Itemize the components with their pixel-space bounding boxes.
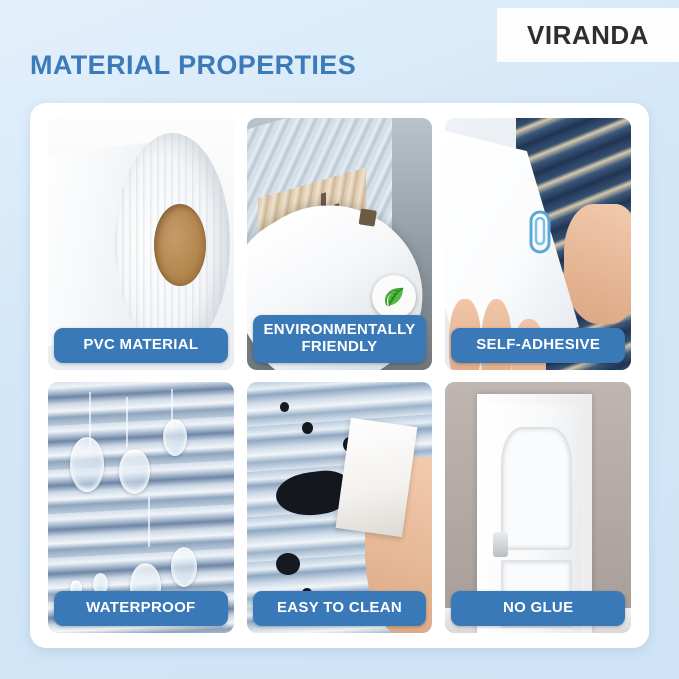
feature-cell-self-adhesive[interactable]: SELF-ADHESIVE [445,118,631,370]
features-grid: PVC MATERIAL [48,118,631,633]
features-card: PVC MATERIAL [30,103,649,648]
right-hand-shape [564,204,631,325]
feature-label-easy-to-clean: EASY TO CLEAN [253,591,427,626]
droplet-trail [148,497,150,547]
feature-label-no-glue: NO GLUE [451,591,625,626]
feature-cell-easy-to-clean[interactable]: EASY TO CLEAN [247,382,433,634]
droplet-trail [126,397,128,447]
feature-cell-no-glue[interactable]: NO GLUE [445,382,631,634]
green-leaf-icon [372,275,416,319]
stain-dot [280,402,289,412]
door-handle-icon [493,532,508,557]
brand-name: VIRANDA [527,20,649,51]
paperclip-icon [527,209,553,260]
feature-label-environmentally-friendly: ENVIRONMENTALLY FRIENDLY [253,315,427,363]
feature-label-self-adhesive: SELF-ADHESIVE [451,328,625,363]
feature-cell-environmentally-friendly[interactable]: ENVIRONMENTALLY FRIENDLY [247,118,433,370]
water-droplet [70,437,104,492]
feature-cell-waterproof[interactable]: WATERPROOF [48,382,234,634]
feature-label-waterproof: WATERPROOF [54,591,228,626]
feature-cell-pvc-material[interactable]: PVC MATERIAL [48,118,234,370]
label-line-1: ENVIRONMENTALLY [263,321,415,338]
water-droplet [119,449,151,494]
curl-tip-shape [359,208,377,226]
feature-label-pvc-material: PVC MATERIAL [54,328,228,363]
page-title: MATERIAL PROPERTIES [30,50,356,81]
brand-logo-box: VIRANDA [497,8,679,62]
water-droplet [171,547,197,587]
pvc-core-shape [154,204,206,287]
label-line-2: FRIENDLY [301,338,377,355]
door-upper-panel [501,427,572,550]
